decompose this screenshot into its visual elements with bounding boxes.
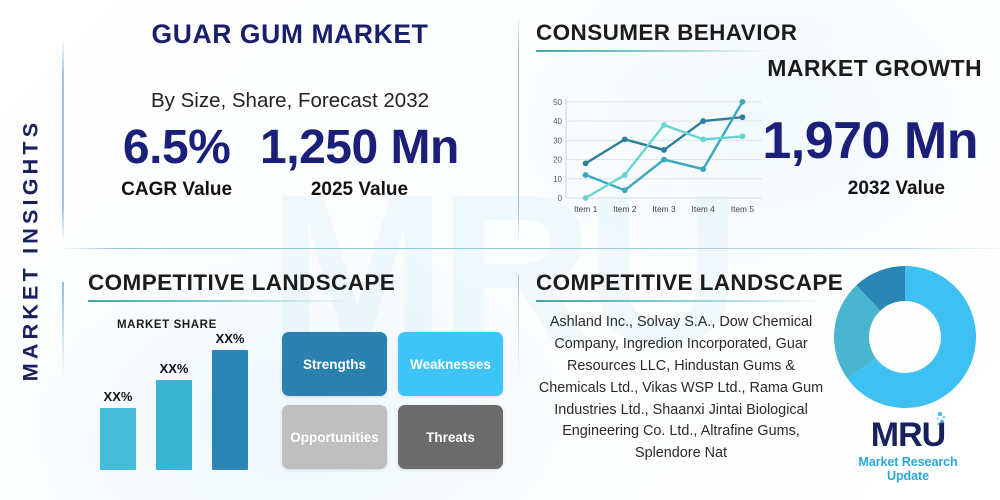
bar-data-label: XX% [100, 389, 136, 404]
swot-grid: Strengths Weaknesses Opportunities Threa… [282, 332, 507, 474]
svg-text:10: 10 [553, 175, 562, 184]
swot-cell-threats[interactable]: Threats [398, 405, 503, 469]
infographic-canvas: MRU MARKET INSIGHTS GUAR GUM MARKET By S… [0, 0, 1000, 500]
panel-consumer-behavior: CONSUMER BEHAVIOR MARKET GROWTH 1,970 Mn… [520, 0, 1000, 248]
svg-text:0: 0 [558, 194, 563, 203]
svg-text:40: 40 [553, 117, 562, 126]
svg-text:Item 1: Item 1 [574, 204, 598, 214]
kpi-cagr-label: CAGR Value [121, 179, 232, 201]
market-growth-title: MARKET GROWTH [767, 55, 982, 82]
svg-text:Item 2: Item 2 [613, 204, 637, 214]
market-growth-label: 2032 Value [848, 178, 945, 200]
competitive-landscape-left-title: COMPETITIVE LANDSCAPE [88, 270, 348, 296]
mru-logo-mark: MRU [871, 418, 945, 452]
consumer-behavior-title: CONSUMER BEHAVIOR [536, 20, 766, 46]
svg-text:20: 20 [553, 156, 562, 165]
swot-cell-label: Threats [426, 430, 475, 445]
svg-text:50: 50 [553, 98, 562, 107]
panel-competitive-landscape-companies: COMPETITIVE LANDSCAPE Ashland Inc., Solv… [520, 250, 1000, 500]
swot-cell-label: Weaknesses [410, 357, 491, 372]
kpi-2025-value: 1,250 Mn 2025 Value [260, 124, 459, 201]
swot-cell-weaknesses[interactable]: Weaknesses [398, 332, 503, 396]
competitive-landscape-left-heading: COMPETITIVE LANDSCAPE [88, 270, 348, 302]
kpi-cagr: 6.5% CAGR Value [121, 124, 232, 201]
competitive-landscape-right-heading: COMPETITIVE LANDSCAPE [536, 270, 816, 302]
kpi-2025-value-label: 2025 Value [260, 179, 459, 201]
svg-text:Item 4: Item 4 [692, 204, 716, 214]
bar-column: XX% [156, 361, 192, 470]
market-growth-value: 1,970 Mn [762, 115, 978, 167]
bar-column: XX% [100, 389, 136, 470]
panel-market-overview: GUAR GUM MARKET By Size, Share, Forecast… [62, 0, 518, 248]
svg-text:Item 3: Item 3 [652, 204, 676, 214]
svg-text:Item 5: Item 5 [731, 204, 755, 214]
bar-rect [100, 408, 136, 470]
market-share-bar-chart: XX% XX% XX% [100, 334, 280, 470]
kpi-row: 6.5% CAGR Value 1,250 Mn 2025 Value [62, 124, 518, 201]
consumer-behavior-heading: CONSUMER BEHAVIOR [536, 20, 766, 52]
page-subtitle: By Size, Share, Forecast 2032 [62, 89, 518, 113]
market-share-donut-chart [830, 262, 980, 412]
kpi-cagr-value: 6.5% [121, 124, 232, 172]
bar-rect [212, 350, 248, 470]
panel-competitive-landscape-swot: COMPETITIVE LANDSCAPE MARKET SHARE XX% X… [62, 250, 518, 500]
bar-data-label: XX% [156, 361, 192, 376]
donut-chart-svg [830, 262, 980, 412]
swot-cell-label: Opportunities [290, 430, 379, 445]
page-title: GUAR GUM MARKET [62, 19, 518, 50]
bubbles-icon [931, 411, 947, 429]
competitive-landscape-right-title: COMPETITIVE LANDSCAPE [536, 270, 816, 296]
bar-data-label: XX% [212, 331, 248, 346]
svg-text:30: 30 [553, 136, 562, 145]
swot-cell-opportunities[interactable]: Opportunities [282, 405, 387, 469]
kpi-2025-value-number: 1,250 Mn [260, 124, 459, 172]
bar-column: XX% [212, 331, 248, 470]
mru-logo-tagline: Market Research Update [838, 455, 978, 483]
market-share-label: MARKET SHARE [117, 319, 217, 331]
vertical-rail-label: MARKET INSIGHTS [19, 119, 44, 381]
swot-cell-label: Strengths [303, 357, 366, 372]
bar-rect [156, 380, 192, 470]
heading-underline [88, 300, 348, 302]
vertical-rail: MARKET INSIGHTS [0, 0, 62, 500]
consumer-behavior-line-chart: 01020304050Item 1Item 2Item 3Item 4Item … [540, 90, 770, 220]
swot-cell-strengths[interactable]: Strengths [282, 332, 387, 396]
heading-underline [536, 50, 766, 52]
line-chart-svg: 01020304050Item 1Item 2Item 3Item 4Item … [540, 90, 770, 220]
company-list: Ashland Inc., Solvay S.A., Dow Chemical … [532, 312, 830, 465]
heading-underline [536, 300, 816, 302]
mru-logo: MRU Market Research Update [838, 418, 978, 483]
